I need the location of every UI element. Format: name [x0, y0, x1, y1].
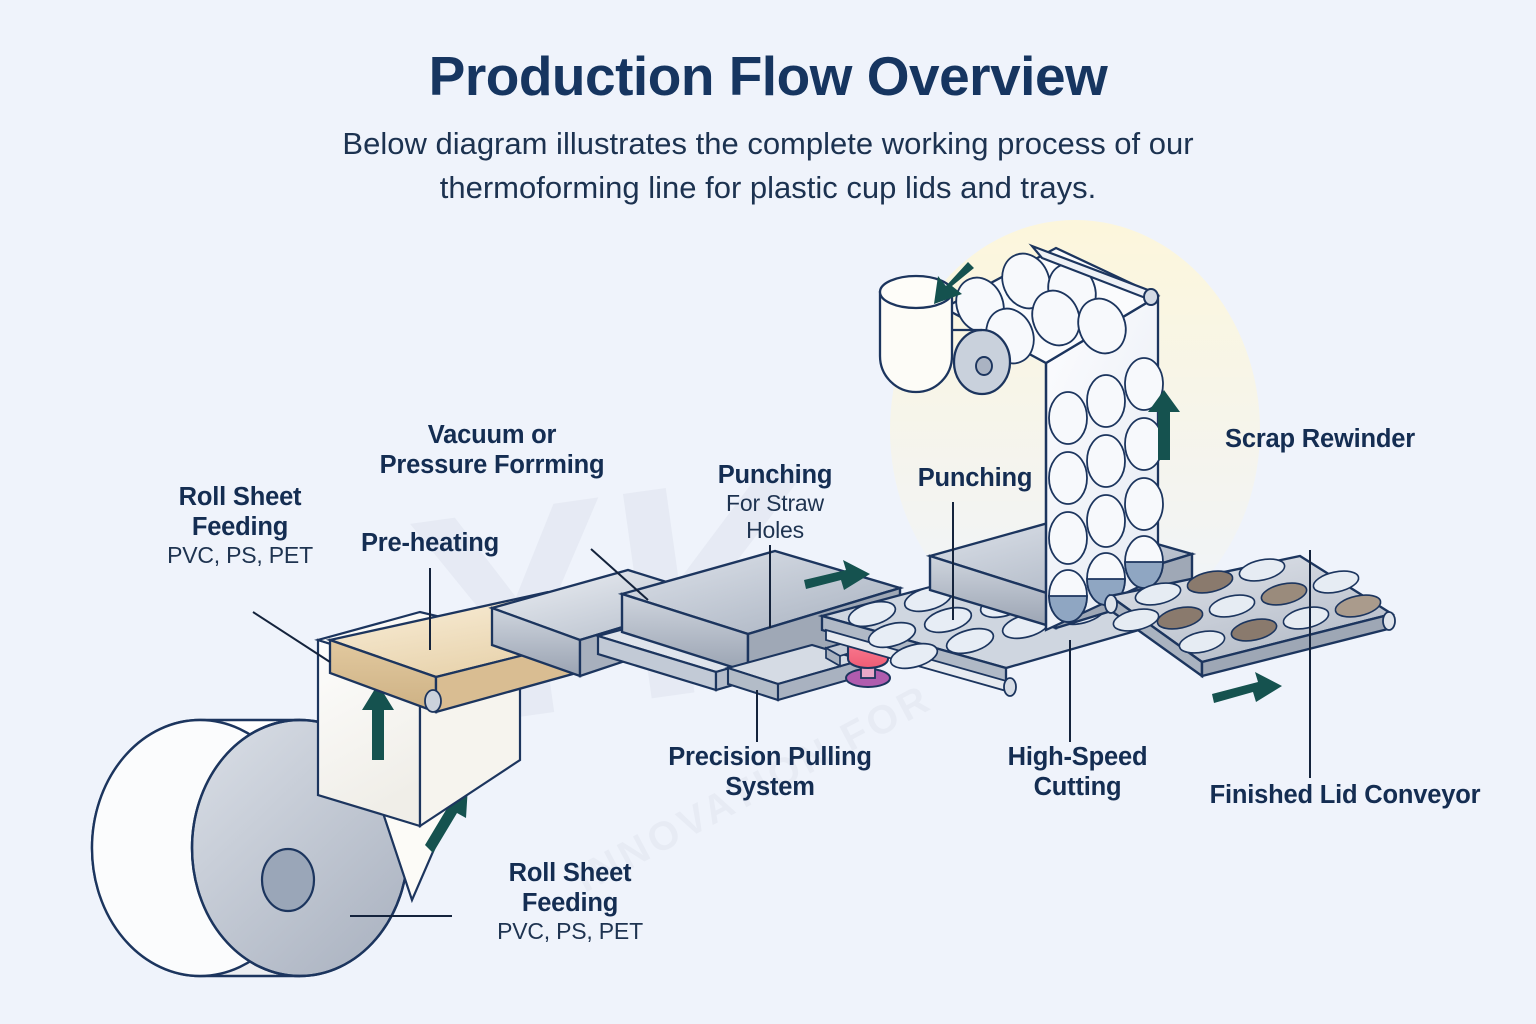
label-title-line-2: Pressure Forrming — [362, 450, 622, 480]
label-finished-lid-conveyor: Finished Lid Conveyor — [1180, 780, 1510, 810]
label-title-line-1: Roll Sheet — [140, 482, 340, 512]
label-title-line-2: System — [640, 772, 900, 802]
flow-arrow-icon — [1212, 672, 1282, 703]
label-title-line-1: Vacuum or — [362, 420, 622, 450]
label-precision-pulling-system: Precision Pulling System — [640, 742, 900, 802]
label-pre-heating: Pre-heating — [330, 528, 530, 558]
label-title-line-2: Feeding — [140, 512, 340, 542]
label-title-line-2: Feeding — [455, 888, 685, 918]
label-vacuum-or-pressure-forming: Vacuum or Pressure Forrming — [362, 420, 622, 480]
label-subtitle-line-1: For Straw — [685, 490, 865, 517]
label-title-line-1: Scrap Rewinder — [1195, 424, 1445, 454]
label-scrap-rewinder: Scrap Rewinder — [1195, 424, 1445, 454]
label-subtitle: PVC, PS, PET — [455, 918, 685, 945]
label-title-line-2: Cutting — [975, 772, 1180, 802]
diagram-canvas: Production Flow Overview Below diagram i… — [0, 0, 1536, 1024]
label-subtitle-line-2: Holes — [685, 517, 865, 544]
label-title-line-1: Punching — [685, 460, 865, 490]
label-title-line-1: Pre-heating — [330, 528, 530, 558]
label-high-speed-cutting: High-Speed Cutting — [975, 742, 1180, 802]
label-roll-sheet-feeding-bottom: Roll Sheet Feeding PVC, PS, PET — [455, 858, 685, 945]
label-roll-sheet-feeding-top: Roll Sheet Feeding PVC, PS, PET — [140, 482, 340, 569]
label-title-line-1: Finished Lid Conveyor — [1180, 780, 1510, 810]
label-title-line-1: Precision Pulling — [640, 742, 900, 772]
label-punching-2: Punching — [885, 463, 1065, 493]
label-title-line-1: Roll Sheet — [455, 858, 685, 888]
label-title-line-1: Punching — [885, 463, 1065, 493]
label-subtitle: PVC, PS, PET — [140, 542, 340, 569]
label-punching-straw-holes: Punching For Straw Holes — [685, 460, 865, 544]
label-title-line-1: High-Speed — [975, 742, 1180, 772]
